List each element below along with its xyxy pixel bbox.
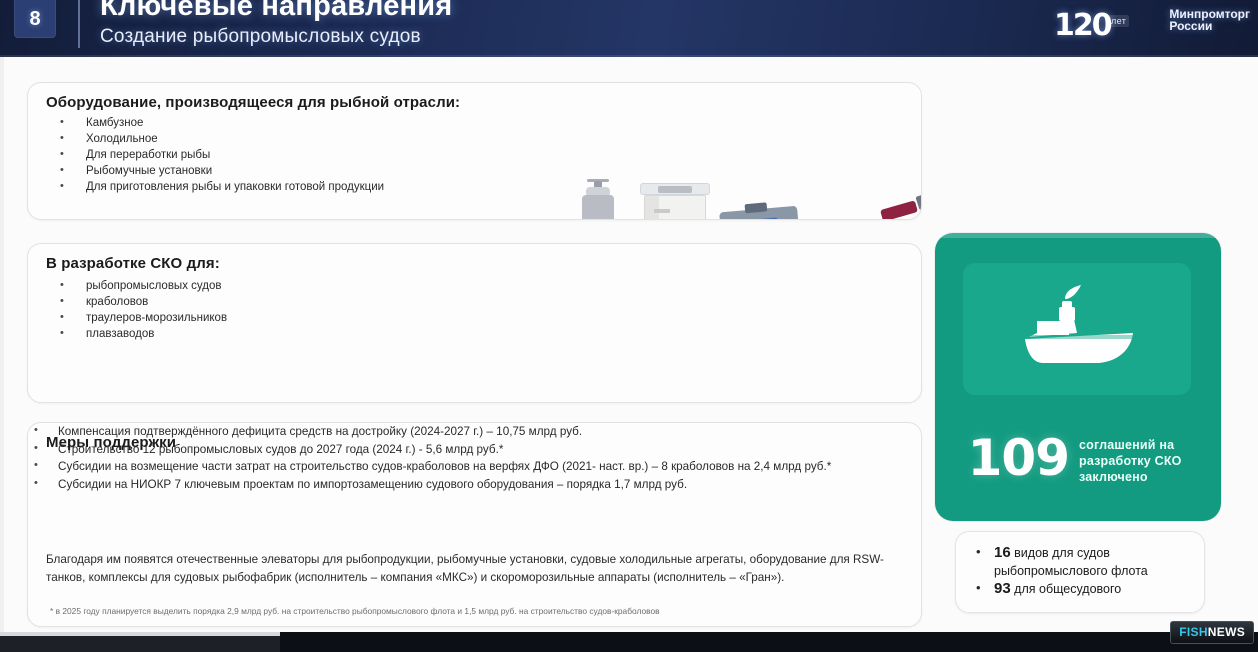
- list-item: Строительство 12 рыбопромысловых судов д…: [28, 441, 873, 459]
- watermark-part-1: FISH: [1179, 625, 1208, 639]
- list-item: 16 видов для судов рыбопромыслового флот…: [970, 544, 1204, 580]
- header-divider: [78, 0, 80, 48]
- presentation-slide: 8 Ключевые направления Создание рыбопром…: [0, 0, 1258, 652]
- breakdown-value: 16: [994, 544, 1011, 561]
- sko-bullet-list: рыбопромысловых судов краболовов траулер…: [54, 278, 227, 342]
- equipment-card-title: Оборудование, производящееся для рыбной …: [46, 94, 460, 111]
- breakdown-value: 93: [994, 580, 1011, 597]
- page-subtitle: Создание рыбопромысловых судов: [100, 26, 421, 48]
- list-item: Субсидии на НИОКР 7 ключевым проектам по…: [28, 476, 873, 494]
- list-item: Для переработки рыбы: [54, 147, 384, 163]
- ministry-logo: Минпромторг России: [1169, 8, 1250, 32]
- sko-development-card: В разработке СКО для: рыбопромысловых су…: [27, 243, 922, 403]
- list-item: плавзаводов: [54, 326, 227, 342]
- slide-number: 8: [14, 8, 56, 31]
- ship-icon: [1007, 281, 1147, 377]
- list-item: Для приготовления рыбы и упаковки готово…: [54, 179, 384, 195]
- support-footnote: * в 2025 году планируется выделить поряд…: [50, 606, 910, 617]
- fish-processing-machine-image: [715, 197, 808, 220]
- list-item: Рыбомучные установки: [54, 163, 384, 179]
- player-bottom-bar: [0, 632, 1258, 652]
- sko-card-title: В разработке СКО для:: [46, 255, 220, 272]
- list-item: Холодильное: [54, 131, 384, 147]
- list-item: Камбузное: [54, 115, 384, 131]
- ship-icon-tile: [963, 263, 1191, 395]
- conveyor-line-image: [833, 183, 922, 220]
- list-item: 93 для общесудового: [970, 580, 1204, 598]
- support-measures-card: Меры поддержки Компенсация подтверждённо…: [27, 422, 922, 627]
- list-item: краболовов: [54, 294, 227, 310]
- logo-number: 120: [1054, 8, 1111, 43]
- ministry-line-2: России: [1169, 20, 1250, 32]
- galley-cabinet-image: [636, 183, 714, 220]
- separator-equipment-image: [568, 179, 628, 220]
- agreements-label: соглашений на разработку СКО заключено: [1079, 437, 1213, 485]
- page-title: Ключевые направления: [100, 0, 452, 23]
- breakdown-text: видов для судов: [1011, 546, 1110, 560]
- anniversary-logo: 120 лет: [1054, 6, 1166, 40]
- equipment-bullet-list: Камбузное Холодильное Для переработки ры…: [54, 115, 384, 195]
- list-item: Компенсация подтверждённого дефицита сре…: [28, 423, 873, 441]
- list-item: траулеров-морозильников: [54, 310, 227, 326]
- support-paragraph: Благодаря им появятся отечественные элев…: [46, 551, 908, 586]
- left-edge-strip: [0, 57, 4, 632]
- sko-breakdown-card: 16 видов для судов рыбопромыслового флот…: [955, 531, 1205, 613]
- list-item: Субсидии на возмещение части затрат на с…: [28, 458, 873, 476]
- watermark-part-2: NEWS: [1208, 625, 1245, 639]
- breakdown-text: для общесудового: [1011, 582, 1122, 596]
- support-bullet-list: Компенсация подтверждённого дефицита сре…: [28, 423, 873, 493]
- list-item: рыбопромысловых судов: [54, 278, 227, 294]
- fishnews-watermark: FISHNEWS: [1170, 621, 1254, 644]
- logo-years-label: лет: [1108, 15, 1129, 27]
- equipment-card: Оборудование, производящееся для рыбной …: [27, 82, 922, 220]
- agreements-count: 109: [949, 433, 1069, 483]
- slide-header: 8 Ключевые направления Создание рыбопром…: [0, 0, 1258, 57]
- sko-agreements-panel: 109 соглашений на разработку СКО заключе…: [935, 233, 1221, 521]
- breakdown-continuation: рыбопромыслового флота: [994, 562, 1204, 580]
